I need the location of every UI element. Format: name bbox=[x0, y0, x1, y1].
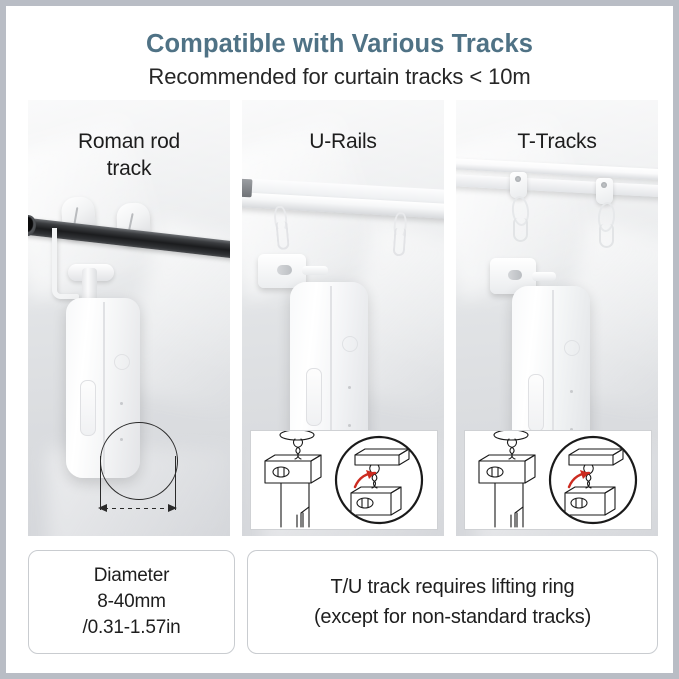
infographic-page: Compatible with Various Tracks Recommend… bbox=[6, 6, 673, 673]
diameter-dashed-line bbox=[104, 508, 171, 509]
track-type-panels: Roman rod track bbox=[28, 100, 658, 536]
panel-t-tracks: T-Tracks bbox=[456, 100, 658, 536]
panel-u-rails: U-Rails bbox=[242, 100, 444, 536]
arrow-left-icon bbox=[98, 504, 107, 512]
caption-line-1: T/U track requires lifting ring bbox=[314, 572, 591, 602]
diameter-diagram bbox=[90, 422, 194, 522]
caption-line-1: Diameter bbox=[83, 563, 181, 589]
panel-label-line2: track bbox=[28, 155, 230, 182]
caption-row: Diameter 8-40mm /0.31-1.57in T/U track r… bbox=[28, 550, 658, 654]
curtain-hook-icon bbox=[599, 224, 614, 248]
diameter-tick bbox=[175, 456, 176, 510]
lifting-ring-inset-diagram bbox=[250, 430, 438, 530]
lifting-ring-inset-diagram bbox=[464, 430, 652, 530]
caption-line-2: (except for non-standard tracks) bbox=[314, 602, 591, 632]
track-glider bbox=[596, 178, 613, 204]
page-title: Compatible with Various Tracks bbox=[6, 28, 673, 60]
panel-roman-rod: Roman rod track bbox=[28, 100, 230, 536]
arrow-right-icon bbox=[168, 504, 177, 512]
curtain-hook-icon bbox=[388, 212, 406, 259]
panel-label-line1: Roman rod bbox=[28, 128, 230, 155]
caption-line-3: /0.31-1.57in bbox=[83, 615, 181, 641]
lifting-ring-line-drawing bbox=[465, 431, 651, 529]
u-rail-end-cap bbox=[242, 179, 252, 198]
curtain-hook-icon bbox=[513, 218, 528, 242]
panel-label-u-rails: U-Rails bbox=[242, 128, 444, 155]
caption-text-lifting-ring: T/U track requires lifting ring (except … bbox=[314, 572, 591, 632]
diameter-circle-icon bbox=[100, 422, 178, 500]
caption-text-diameter: Diameter 8-40mm /0.31-1.57in bbox=[83, 563, 181, 641]
panel-label-roman-rod: Roman rod track bbox=[28, 128, 230, 182]
caption-box-diameter: Diameter 8-40mm /0.31-1.57in bbox=[28, 550, 235, 654]
header: Compatible with Various Tracks Recommend… bbox=[6, 28, 673, 92]
lifting-ring-line-drawing bbox=[251, 431, 437, 529]
mounting-hook-arm bbox=[52, 228, 68, 299]
diameter-tick bbox=[100, 456, 101, 510]
track-glider bbox=[510, 172, 527, 198]
curtain-hook-icon bbox=[270, 205, 289, 252]
panel-label-t-tracks: T-Tracks bbox=[456, 128, 658, 155]
page-subtitle: Recommended for curtain tracks < 10m bbox=[6, 62, 673, 92]
caption-box-lifting-ring: T/U track requires lifting ring (except … bbox=[247, 550, 658, 654]
caption-line-2: 8-40mm bbox=[83, 589, 181, 615]
